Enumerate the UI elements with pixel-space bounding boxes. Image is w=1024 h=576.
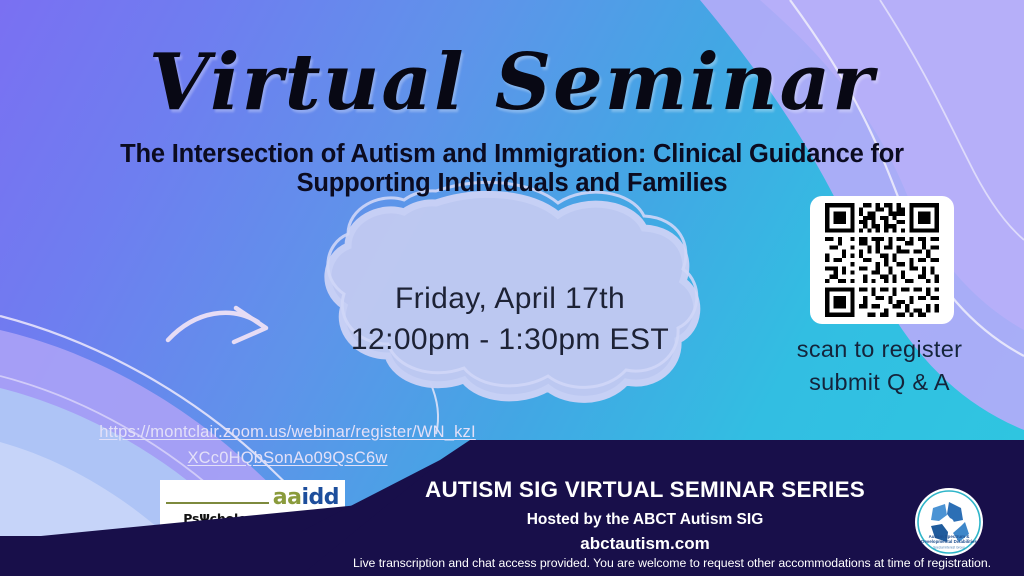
event-time: 12:00pm - 1:30pm EST xyxy=(320,319,700,360)
qr-caption-line-2: submit Q & A xyxy=(735,366,1024,399)
banner-series-title: AUTISM SIG VIRTUAL SEMINAR SERIES xyxy=(395,477,895,503)
event-datetime: Friday, April 17th 12:00pm - 1:30pm EST xyxy=(320,278,700,361)
banner-host: Hosted by the ABCT Autism SIG xyxy=(395,511,895,529)
event-date: Friday, April 17th xyxy=(320,278,700,319)
seminar-subtitle: The Intersection of Autism and Immigrati… xyxy=(50,140,974,198)
abct-logo-line-3: Special Interest Group xyxy=(933,546,965,550)
abct-logo-line-2: Developmental Disabilities xyxy=(921,539,977,544)
qr-code-image xyxy=(813,199,951,321)
subtitle-line-1: The Intersection of Autism and Immigrati… xyxy=(50,140,974,169)
banner-website[interactable]: abctautism.com xyxy=(395,534,895,554)
registration-url-line-1[interactable]: https://montclair.zoom.us/webinar/regist… xyxy=(99,423,476,441)
accessibility-note: Live transcription and chat access provi… xyxy=(322,556,1022,570)
abct-sig-logo: Autism Spectrum & Developmental Disabili… xyxy=(913,486,985,558)
qr-code[interactable] xyxy=(813,199,951,321)
page-title: Virtual Seminar xyxy=(0,44,1024,122)
seminar-flyer: Virtual Seminar The Intersection of Auti… xyxy=(0,0,1024,576)
qr-caption: scan to register submit Q & A xyxy=(735,333,1024,400)
curved-arrow-icon xyxy=(168,308,266,342)
qr-caption-line-1: scan to register xyxy=(735,333,1024,366)
subtitle-line-2: Supporting Individuals and Families xyxy=(50,169,974,198)
